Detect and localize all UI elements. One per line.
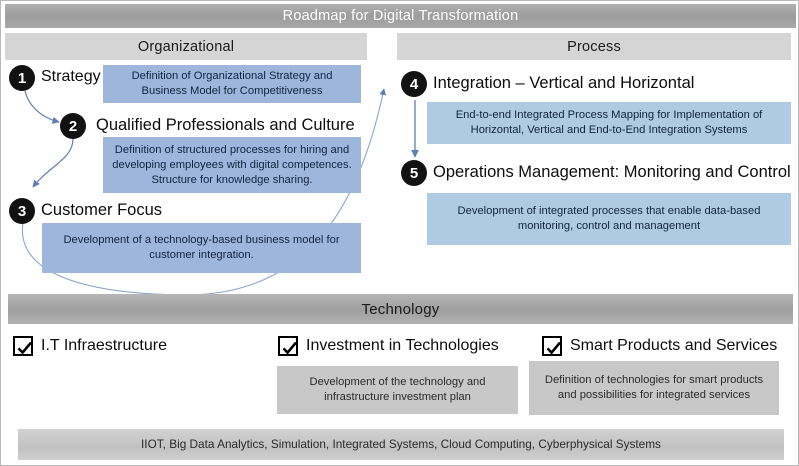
tech-item-label: Smart Products and Services <box>570 337 777 355</box>
step-title-5: Operations Management: Monitoring and Co… <box>433 164 791 181</box>
checkbox-checked-icon[interactable] <box>278 336 298 356</box>
section-header-technology: Technology <box>8 294 793 324</box>
step-description-5: Development of integrated processes that… <box>427 193 791 245</box>
step-number-4: 4 <box>401 71 427 97</box>
column-header-process: Process <box>397 33 791 60</box>
tech-item-label: Investment in Technologies <box>306 337 499 355</box>
step-number-1: 1 <box>9 65 35 91</box>
checkbox-checked-icon[interactable] <box>542 336 562 356</box>
step-title-4: Integration – Vertical and Horizontal <box>433 75 694 92</box>
checkbox-checked-icon[interactable] <box>13 336 33 356</box>
tech-item-smart-products-and-services[interactable]: Smart Products and Services <box>542 336 777 356</box>
step-title-2: Qualified Professionals and Culture <box>96 117 355 134</box>
tech-item-investment-in-technologies[interactable]: Investment in Technologies <box>278 336 499 356</box>
step-number-3: 3 <box>9 198 35 224</box>
arrow-step1-to-step2 <box>25 91 59 122</box>
tech-item-description-2: Development of the technology and infras… <box>277 366 518 414</box>
tech-item-label: I.T Infraestructure <box>41 337 167 355</box>
step-description-2: Definition of structured processes for h… <box>103 137 361 193</box>
tech-item-it-infrastructure[interactable]: I.T Infraestructure <box>13 336 167 356</box>
step-title-3: Customer Focus <box>41 202 162 219</box>
step-title-1: Strategy <box>41 69 101 85</box>
page-title: Roadmap for Digital Transformation <box>5 4 796 28</box>
column-header-organizational: Organizational <box>5 33 367 60</box>
step-description-4: End-to-end Integrated Process Mapping fo… <box>427 102 791 144</box>
step-description-1: Definition of Organizational Strategy an… <box>103 65 361 103</box>
step-number-5: 5 <box>401 160 427 186</box>
roadmap-diagram: Roadmap for Digital Transformation Organ… <box>0 0 799 466</box>
arrow-step2-to-step3 <box>33 139 73 187</box>
step-description-3: Development of a technology-based busine… <box>42 223 361 273</box>
tech-item-description-3: Definition of technologies for smart pro… <box>529 361 779 415</box>
step-number-2: 2 <box>60 113 86 139</box>
technology-footer: IIOT, Big Data Analytics, Simulation, In… <box>18 429 784 460</box>
